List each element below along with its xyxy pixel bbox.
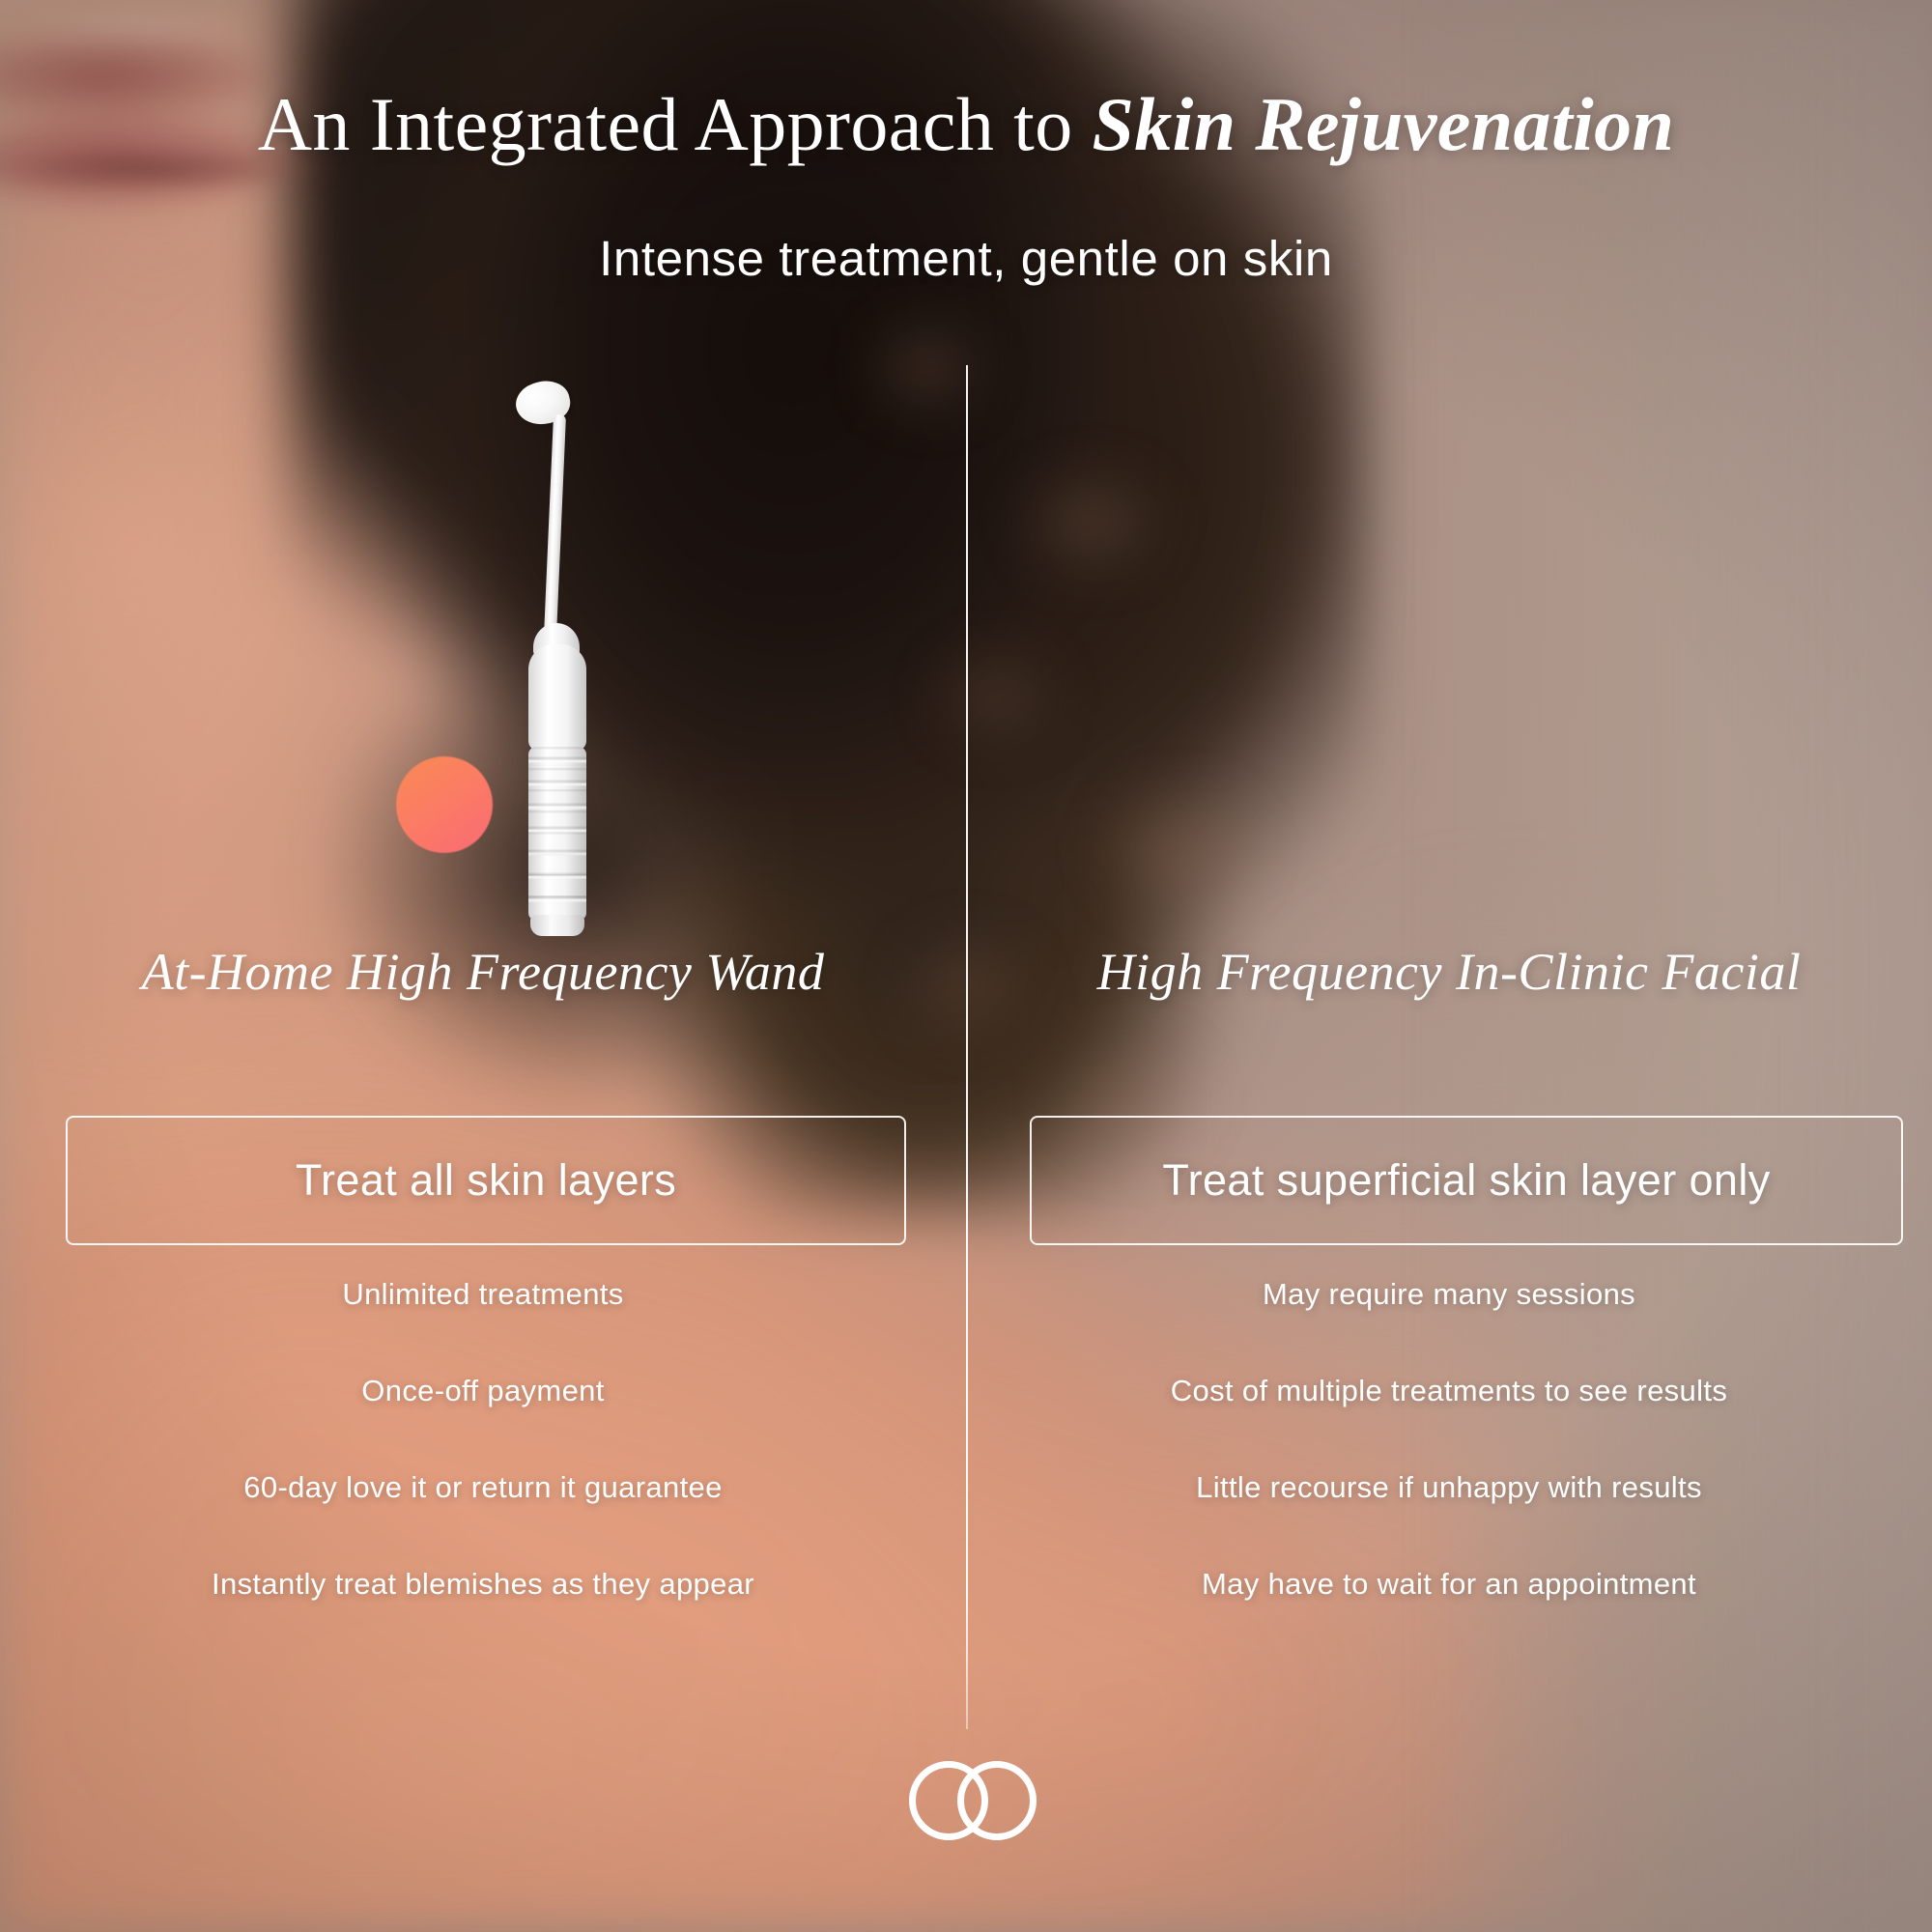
- list-item: Instantly treat blemishes as they appear: [0, 1567, 966, 1602]
- high-frequency-wand-icon: [502, 382, 618, 942]
- list-item: May require many sessions: [966, 1277, 1932, 1312]
- list-item: Little recourse if unhappy with results: [966, 1470, 1932, 1505]
- claim-box-in-clinic: Treat superficial skin layer only: [1030, 1116, 1903, 1245]
- column-title-at-home: At-Home High Frequency Wand: [0, 942, 966, 1002]
- list-item: May have to wait for an appointment: [966, 1567, 1932, 1602]
- wand-body: [528, 644, 586, 751]
- claim-text-in-clinic: Treat superficial skin layer only: [1162, 1155, 1770, 1206]
- list-item: Cost of multiple treatments to see resul…: [966, 1374, 1932, 1408]
- comparison-graphic: An Integrated Approach to Skin Rejuvenat…: [0, 0, 1932, 1932]
- list-item: Once-off payment: [0, 1374, 966, 1408]
- logo-ring-right: [957, 1761, 1037, 1840]
- wand-neck: [544, 414, 566, 637]
- two-interlocking-rings-logo: [909, 1761, 1023, 1831]
- bullet-list-in-clinic: May require many sessions Cost of multip…: [966, 1277, 1932, 1663]
- claim-text-at-home: Treat all skin layers: [296, 1155, 676, 1206]
- column-title-in-clinic: High Frequency In-Clinic Facial: [966, 942, 1932, 1002]
- column-at-home: At-Home High Frequency Wand Treat all sk…: [0, 0, 966, 1932]
- wand-grip: [528, 747, 586, 921]
- list-item: 60-day love it or return it guarantee: [0, 1470, 966, 1505]
- column-in-clinic: High Frequency In-Clinic Facial Treat su…: [966, 0, 1932, 1932]
- glow-dot-icon: [396, 756, 493, 853]
- wand-base: [530, 915, 584, 936]
- list-item: Unlimited treatments: [0, 1277, 966, 1312]
- claim-box-at-home: Treat all skin layers: [66, 1116, 906, 1245]
- bullet-list-at-home: Unlimited treatments Once-off payment 60…: [0, 1277, 966, 1663]
